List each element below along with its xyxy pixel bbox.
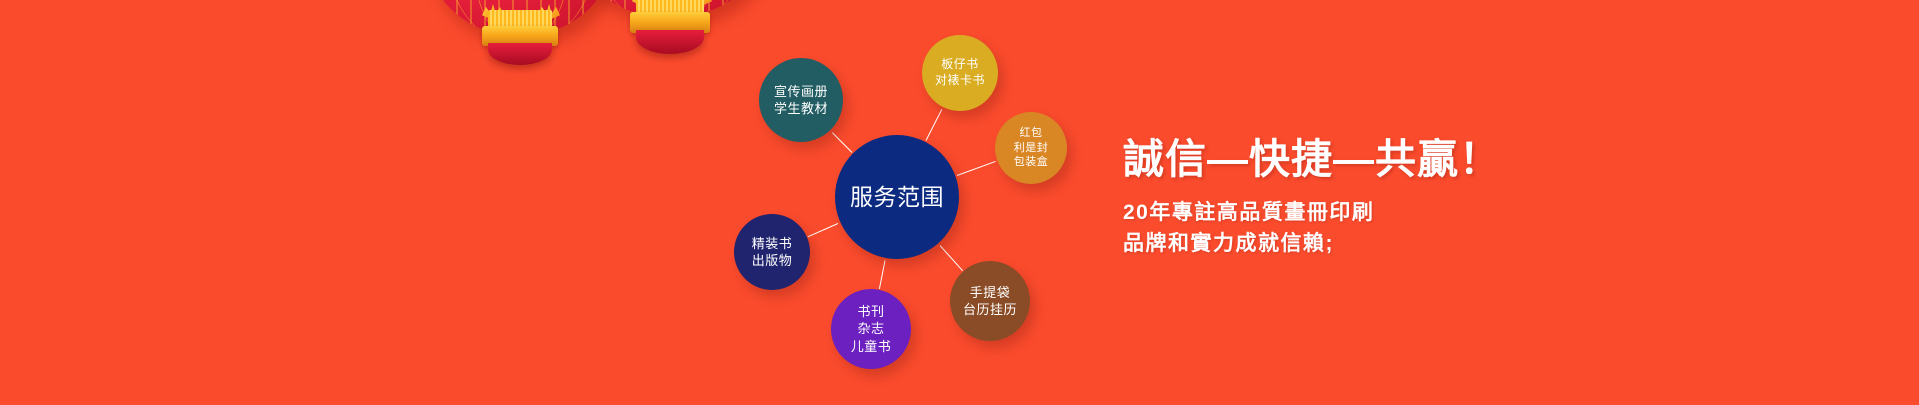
lantern-rib	[618, 0, 724, 18]
headline: 誠信—快捷—共贏！	[1123, 137, 1501, 182]
subheadline-line-2: 品牌和實力成就信賴;	[1123, 229, 1501, 259]
node-red-packet-label-line-3: 包装盒	[1014, 155, 1049, 170]
node-magazine-label-line-1: 书刊	[857, 303, 884, 320]
node-hardcover-label-line-1: 精装书	[752, 235, 793, 252]
node-handbag-label-line-2: 台历挂历	[963, 301, 1017, 318]
node-brochure[interactable]: 宣传画册学生教材	[759, 58, 843, 142]
connector-to-node-handbag	[939, 245, 962, 271]
subheadline-block: 20年專註高品質畫冊印刷 品牌和實力成就信賴;	[1123, 198, 1501, 259]
red-lantern	[430, 0, 610, 70]
lantern-leaf	[538, 4, 560, 20]
node-board-book[interactable]: 板仔书对裱卡书	[922, 35, 998, 111]
lantern-rib	[448, 0, 594, 36]
lantern-fringe	[488, 43, 552, 65]
connector-to-node-magazine	[879, 260, 885, 288]
lantern-leaf	[632, 0, 654, 6]
subheadline-line-1: 20年專註高品質畫冊印刷	[1123, 198, 1501, 228]
connector-to-node-brochure	[832, 131, 853, 152]
promo-banner: 板仔书对裱卡书宣传画册学生教材红包利是封包装盒精装书出版物手提袋台历挂历书刊杂志…	[0, 0, 1919, 405]
lantern-body	[430, 0, 610, 36]
node-board-book-label-line-1: 板仔书	[941, 57, 979, 73]
lantern-bottom-tassel	[488, 10, 552, 28]
lantern-rib	[590, 0, 752, 18]
center-node-service-scope[interactable]: 服务范围	[835, 135, 959, 259]
lantern-leaf	[482, 4, 504, 20]
marketing-copy: 誠信—快捷—共贏！ 20年專註高品質畫冊印刷 品牌和實力成就信賴;	[1123, 137, 1501, 259]
node-red-packet[interactable]: 红包利是封包装盒	[995, 112, 1067, 184]
node-magazine[interactable]: 书刊杂志儿童书	[831, 289, 911, 369]
node-hardcover[interactable]: 精装书出版物	[734, 214, 810, 290]
lantern-body	[570, 0, 770, 18]
lantern-fringe	[636, 30, 704, 54]
lantern-cap	[482, 26, 558, 46]
lantern-decoration	[430, 0, 760, 110]
node-magazine-label-line-3: 儿童书	[851, 338, 892, 355]
red-lantern	[570, 0, 770, 70]
connector-to-node-hardcover	[808, 223, 838, 237]
node-magazine-label-line-2: 杂志	[857, 320, 884, 337]
lantern-rib	[473, 0, 569, 36]
node-handbag-label-line-1: 手提袋	[970, 284, 1011, 301]
node-brochure-label-line-1: 宣传画册	[774, 83, 828, 100]
node-board-book-label-line-2: 对裱卡书	[935, 73, 985, 89]
node-hardcover-label-line-2: 出版物	[752, 252, 793, 269]
lantern-leaf	[690, 0, 712, 6]
node-handbag[interactable]: 手提袋台历挂历	[950, 261, 1030, 341]
connector-to-node-board-book	[926, 109, 943, 141]
node-red-packet-label-line-1: 红包	[1020, 126, 1043, 141]
node-red-packet-label-line-2: 利是封	[1014, 141, 1049, 156]
lantern-cap	[630, 12, 710, 33]
connector-to-node-red-packet	[957, 161, 996, 176]
center-node-label: 服务范围	[850, 182, 944, 212]
lantern-bottom-tassel	[636, 0, 704, 14]
node-brochure-label-line-2: 学生教材	[774, 100, 828, 117]
